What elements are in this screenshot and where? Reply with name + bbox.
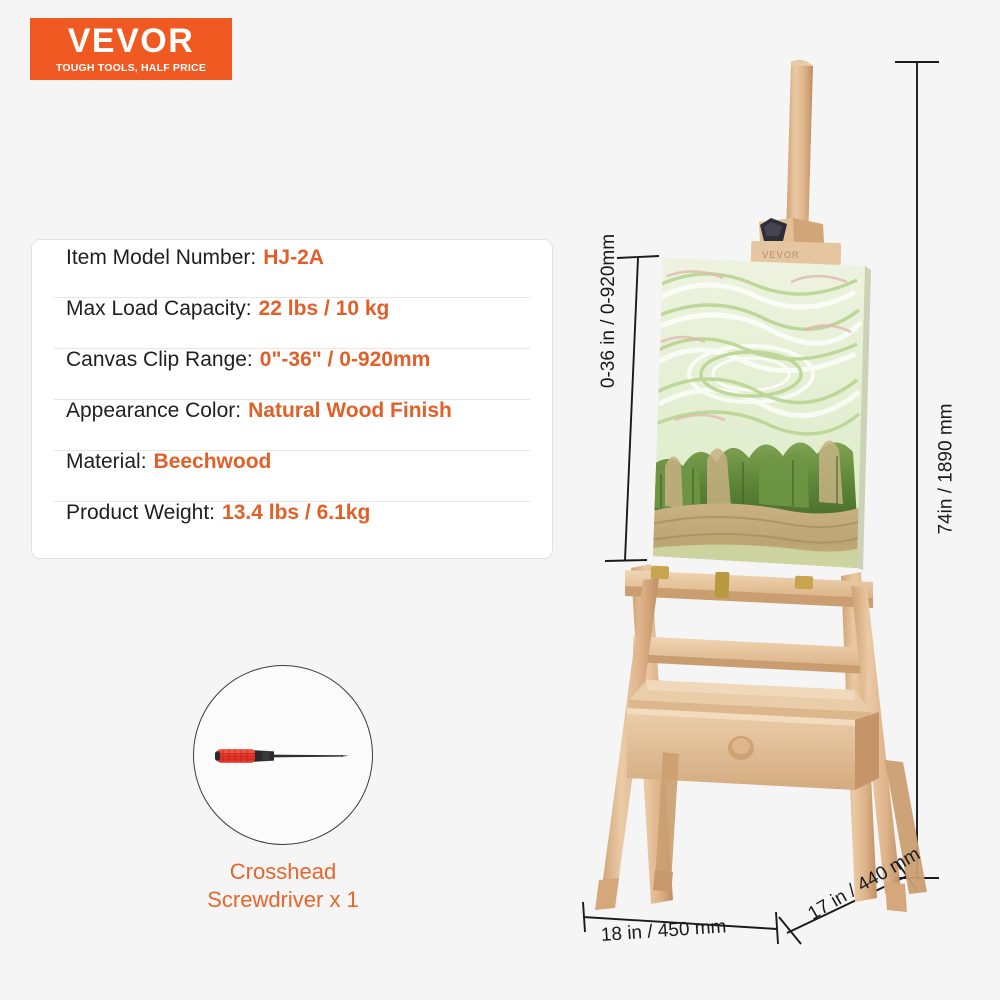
- canvas-clip-bracket: VEVOR: [751, 218, 842, 265]
- accessory-circle-frame: [193, 665, 373, 845]
- spec-value: Beechwood: [154, 450, 272, 474]
- dimension-tick-width-left: [583, 902, 585, 932]
- dimension-tick-clip-bottom: [605, 560, 647, 561]
- clip-brand-mark: VEVOR: [762, 250, 800, 260]
- logo-tagline: TOUGH TOOLS, HALF PRICE: [56, 63, 206, 74]
- dimension-line-clip: [625, 258, 638, 560]
- accessory-block: Crosshead Screwdriver x 1: [183, 665, 383, 913]
- logo-wordmark: VEVOR: [68, 24, 195, 58]
- easel-body: VEVOR: [595, 60, 927, 912]
- spec-value: HJ-2A: [263, 246, 324, 270]
- dimension-label-canvas-clip-range: 0-36 in / 0-920mm: [598, 234, 620, 388]
- spec-label: Item Model Number:: [66, 246, 256, 270]
- spec-value: 22 lbs / 10 kg: [259, 297, 390, 321]
- spec-label: Appearance Color:: [66, 399, 241, 423]
- dimension-tick-depth-left: [779, 917, 801, 944]
- spec-value: Natural Wood Finish: [248, 399, 452, 423]
- easel-mast: [786, 62, 813, 240]
- crosshead-screwdriver-icon: [210, 746, 358, 766]
- dimension-label-total-height: 74in / 1890 mm: [935, 404, 957, 535]
- spec-row-max-load-capacity: Max Load Capacity: 22 lbs / 10 kg: [32, 297, 552, 348]
- spec-label: Product Weight:: [66, 501, 215, 525]
- accessory-label: Crosshead Screwdriver x 1: [183, 858, 383, 913]
- canvas-painting: [645, 250, 875, 580]
- spec-value: 13.4 lbs / 6.1kg: [222, 501, 370, 525]
- spec-label: Canvas Clip Range:: [66, 348, 253, 372]
- spec-label: Material:: [66, 450, 147, 474]
- product-illustration: VEVOR: [555, 0, 1000, 1000]
- spec-label: Max Load Capacity:: [66, 297, 252, 321]
- accessory-label-line1: Crosshead: [183, 858, 383, 886]
- easel-drawing: VEVOR: [555, 0, 1000, 1000]
- spec-row-material: Material: Beechwood: [32, 450, 552, 501]
- spec-row-canvas-clip-range: Canvas Clip Range: 0"-36" / 0-920mm: [32, 348, 552, 399]
- spec-row-item-model-number: Item Model Number: HJ-2A: [32, 246, 552, 297]
- accessory-label-line2: Screwdriver x 1: [183, 886, 383, 914]
- dimension-tick-width-right: [776, 912, 778, 944]
- easel-mast-cap: [791, 60, 813, 66]
- dimension-tick-clip-top: [617, 256, 659, 258]
- spec-row-appearance-color: Appearance Color: Natural Wood Finish: [32, 399, 552, 450]
- spec-value: 0"-36" / 0-920mm: [260, 348, 431, 372]
- middle-rail: [633, 636, 869, 674]
- spec-row-product-weight: Product Weight: 13.4 lbs / 6.1kg: [32, 501, 552, 552]
- specification-card: Item Model Number: HJ-2A Max Load Capaci…: [31, 239, 553, 559]
- vevor-logo: VEVOR TOUGH TOOLS, HALF PRICE: [30, 18, 232, 80]
